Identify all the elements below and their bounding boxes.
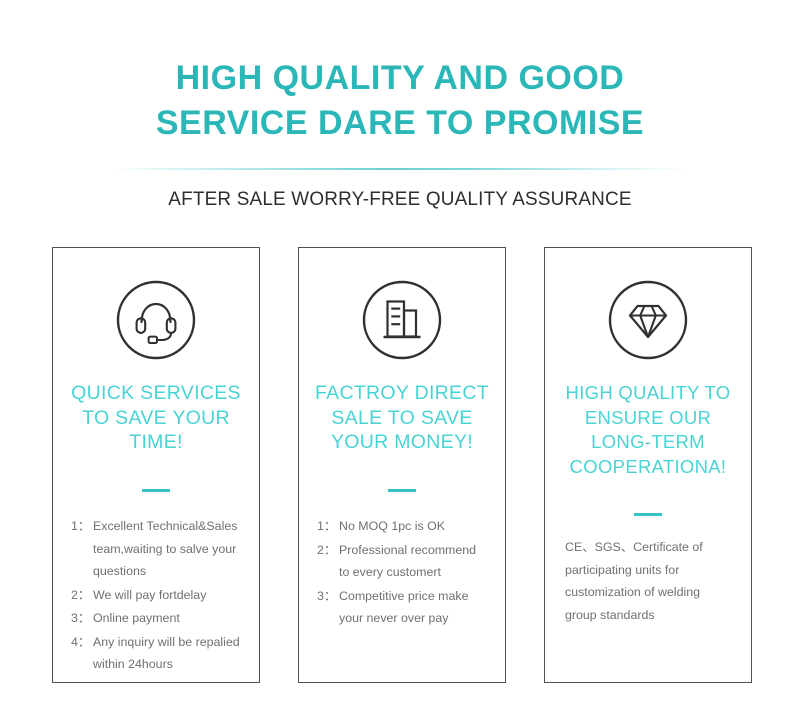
card-title-line: QUICK SERVICES [61, 381, 251, 406]
list-item-text: Competitive price make your never over p… [339, 585, 489, 630]
list-item: 4： Any inquiry will be repalied within 2… [71, 631, 243, 676]
card-body: CE、SGS、Certificate of participating unit… [545, 536, 751, 626]
feature-list: 1： No MOQ 1pc is OK 2： Professional reco… [317, 515, 489, 630]
card-title-line: ENSURE OUR [553, 406, 743, 431]
list-item-number: 1： [317, 515, 339, 538]
list-item-text: Professional recommend to every customer… [339, 539, 489, 584]
list-item-text: Any inquiry will be repalied within 24ho… [93, 631, 243, 676]
feature-list: 1： Excellent Technical&Sales team,waitin… [71, 515, 243, 676]
feature-card-row: QUICK SERVICES TO SAVE YOUR TIME! 1： Exc… [52, 247, 752, 683]
list-item: 3： Competitive price make your never ove… [317, 585, 489, 630]
header-divider-wrap [0, 168, 800, 170]
title-dash-divider [142, 489, 170, 492]
list-item-number: 2： [317, 539, 339, 584]
title-dash-divider [634, 513, 662, 516]
promo-banner: HIGH QUALITY AND GOOD SERVICE DARE TO PR… [0, 0, 800, 721]
card-title: QUICK SERVICES TO SAVE YOUR TIME! [61, 381, 251, 455]
list-item-number: 3： [317, 585, 339, 630]
headline-line-2: SERVICE DARE TO PROMISE [90, 101, 710, 146]
diamond-icon [607, 279, 689, 361]
gradient-divider [110, 168, 690, 170]
card-title-line: TO SAVE YOUR [61, 406, 251, 431]
card-body: 1： Excellent Technical&Sales team,waitin… [53, 515, 259, 677]
list-item: 2： Professional recommend to every custo… [317, 539, 489, 584]
feature-card-high-quality: HIGH QUALITY TO ENSURE OUR LONG-TERM COO… [544, 247, 752, 683]
card-title-line: FACTROY DIRECT [307, 381, 497, 406]
list-item: 1： Excellent Technical&Sales team,waitin… [71, 515, 243, 583]
list-item: 2： We will pay fortdelay [71, 584, 243, 607]
card-title-line: TIME! [61, 430, 251, 455]
banner-header: HIGH QUALITY AND GOOD SERVICE DARE TO PR… [0, 0, 800, 211]
banner-subtitle: AFTER SALE WORRY-FREE QUALITY ASSURANCE [12, 188, 788, 211]
list-item-number: 3： [71, 607, 93, 630]
list-item-number: 4： [71, 631, 93, 676]
card-title-line: LONG-TERM [553, 430, 743, 455]
list-item-text: No MOQ 1pc is OK [339, 515, 489, 538]
factory-building-icon [361, 279, 443, 361]
feature-card-factory-direct: FACTROY DIRECT SALE TO SAVE YOUR MONEY! … [298, 247, 506, 683]
headline-line-1: HIGH QUALITY AND GOOD [90, 56, 710, 101]
list-item-text: Online payment [93, 607, 243, 630]
list-item-number: 2： [71, 584, 93, 607]
page-title: HIGH QUALITY AND GOOD SERVICE DARE TO PR… [90, 56, 710, 146]
list-item: 1： No MOQ 1pc is OK [317, 515, 489, 538]
title-dash-divider [388, 489, 416, 492]
card-title-line: YOUR MONEY! [307, 430, 497, 455]
card-body: 1： No MOQ 1pc is OK 2： Professional reco… [299, 515, 505, 631]
list-item-text: Excellent Technical&Sales team,waiting t… [93, 515, 243, 583]
card-title-line: COOPERATIONA! [553, 455, 743, 480]
feature-card-quick-services: QUICK SERVICES TO SAVE YOUR TIME! 1： Exc… [52, 247, 260, 683]
list-item-number: 1： [71, 515, 93, 583]
list-item: 3： Online payment [71, 607, 243, 630]
card-title-line: SALE TO SAVE [307, 406, 497, 431]
card-title: HIGH QUALITY TO ENSURE OUR LONG-TERM COO… [553, 381, 743, 479]
headset-icon [115, 279, 197, 361]
card-paragraph: CE、SGS、Certificate of participating unit… [563, 536, 735, 626]
card-title: FACTROY DIRECT SALE TO SAVE YOUR MONEY! [307, 381, 497, 455]
card-title-line: HIGH QUALITY TO [553, 381, 743, 406]
list-item-text: We will pay fortdelay [93, 584, 243, 607]
